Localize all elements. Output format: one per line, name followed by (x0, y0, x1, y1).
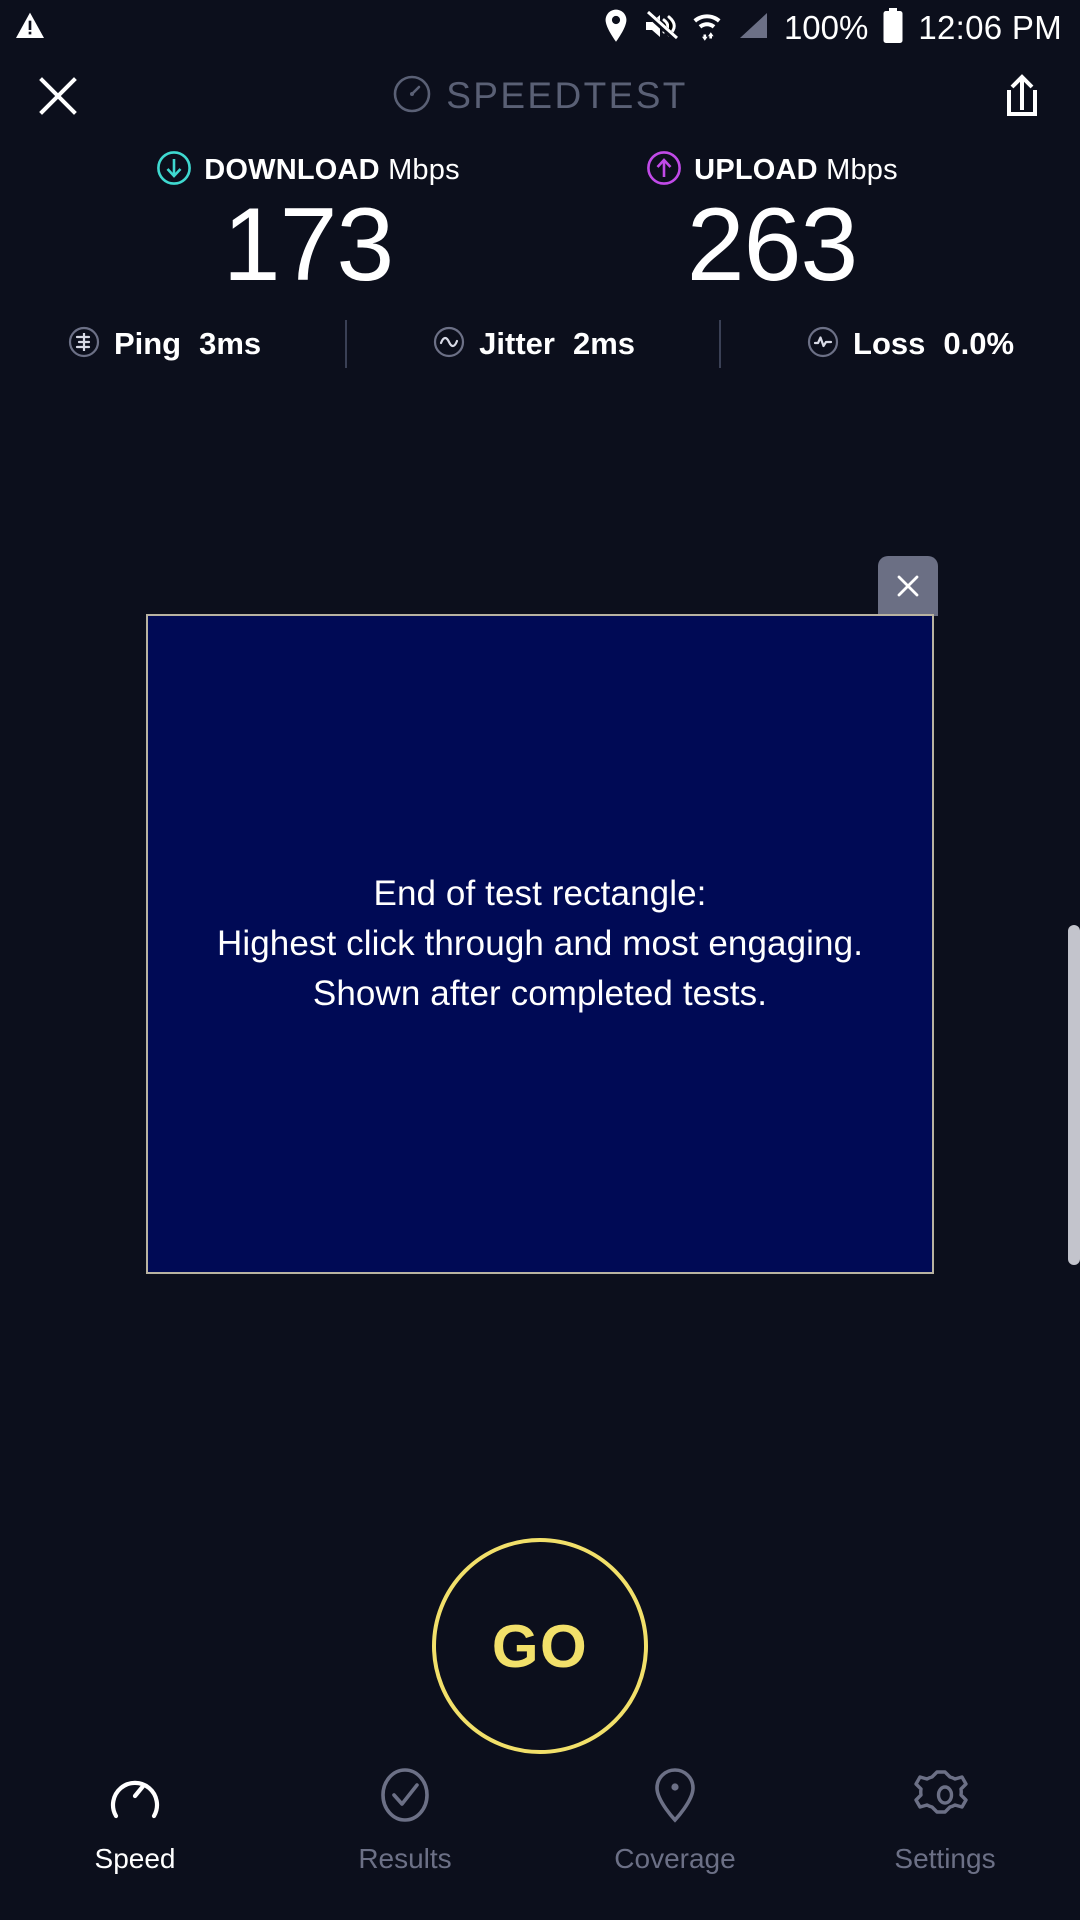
wifi-icon (692, 9, 722, 48)
speedometer-icon (392, 74, 432, 119)
stat-jitter-label: Jitter (479, 326, 555, 362)
download-value: 173 (118, 192, 498, 298)
download-metric-label: DOWNLOAD Mbps (204, 154, 460, 187)
stat-ping-label: Ping (114, 326, 181, 362)
brand-label: SPEEDTEST (446, 75, 688, 117)
battery-percent-label: 100% (784, 9, 868, 47)
nav-item-results[interactable]: Results (270, 1764, 540, 1875)
warning-triangle-icon (14, 10, 46, 47)
go-button[interactable]: GO (432, 1538, 648, 1754)
nav-item-coverage[interactable]: Coverage (540, 1764, 810, 1875)
battery-full-icon (882, 8, 904, 49)
upload-metric-head: UPLOAD Mbps (582, 150, 962, 190)
upload-metric: UPLOAD Mbps 263 (582, 150, 962, 298)
status-bar-right: 100% 12:06 PM (602, 8, 1062, 49)
share-button[interactable] (990, 64, 1054, 128)
stat-loss-value: 0.0% (943, 326, 1014, 362)
page-scrollbar[interactable] (1068, 925, 1080, 1265)
jitter-icon (431, 324, 467, 365)
cell-signal-icon (736, 11, 770, 46)
ad-close-button[interactable] (878, 556, 938, 616)
app-bar: SPEEDTEST (0, 56, 1080, 136)
go-button-label: GO (492, 1612, 588, 1681)
upload-value: 263 (582, 192, 962, 298)
nav-label-results: Results (358, 1843, 451, 1875)
speedtest-app-screen: 100% 12:06 PM SPEEDTEST (0, 0, 1080, 1920)
mute-icon (644, 11, 678, 46)
loss-icon (805, 324, 841, 365)
location-pin-icon (644, 1764, 706, 1831)
stats-divider (719, 320, 721, 368)
stat-jitter-value: 2ms (573, 326, 635, 362)
connection-stats-row: Ping 3ms Jitter 2ms Loss 0.0 (0, 318, 1080, 370)
download-metric: DOWNLOAD Mbps 173 (118, 150, 498, 298)
stat-jitter: Jitter 2ms (431, 324, 635, 365)
nav-item-speed[interactable]: Speed (0, 1764, 270, 1875)
nav-item-settings[interactable]: Settings (810, 1764, 1080, 1875)
brand-title: SPEEDTEST (0, 56, 1080, 136)
download-arrow-icon (156, 150, 192, 191)
gear-icon (914, 1764, 976, 1831)
ping-icon (66, 324, 102, 365)
stat-ping: Ping 3ms (66, 324, 261, 365)
status-bar: 100% 12:06 PM (0, 0, 1080, 56)
stat-loss-label: Loss (853, 326, 925, 362)
location-pin-icon (602, 9, 630, 48)
clock-label: 12:06 PM (918, 9, 1062, 47)
nav-label-speed: Speed (95, 1843, 176, 1875)
ad-banner[interactable]: End of test rectangle: Highest click thr… (146, 614, 934, 1274)
ad-text: End of test rectangle: Highest click thr… (217, 869, 863, 1018)
download-metric-head: DOWNLOAD Mbps (118, 150, 498, 190)
nav-label-settings: Settings (894, 1843, 995, 1875)
stat-ping-value: 3ms (199, 326, 261, 362)
results-panel: DOWNLOAD Mbps 173 UPLOAD Mbps 263 P (0, 136, 1080, 370)
upload-metric-label: UPLOAD Mbps (694, 154, 898, 187)
nav-label-coverage: Coverage (614, 1843, 735, 1875)
speedometer-icon (104, 1764, 166, 1831)
stats-divider (345, 320, 347, 368)
speed-metrics-row: DOWNLOAD Mbps 173 UPLOAD Mbps 263 (0, 136, 1080, 298)
check-circle-icon (374, 1764, 436, 1831)
bottom-navigation: Speed Results Coverage (0, 1750, 1080, 1920)
stat-loss: Loss 0.0% (805, 324, 1014, 365)
upload-arrow-icon (646, 150, 682, 191)
status-bar-left (14, 10, 46, 47)
close-button[interactable] (26, 64, 90, 128)
